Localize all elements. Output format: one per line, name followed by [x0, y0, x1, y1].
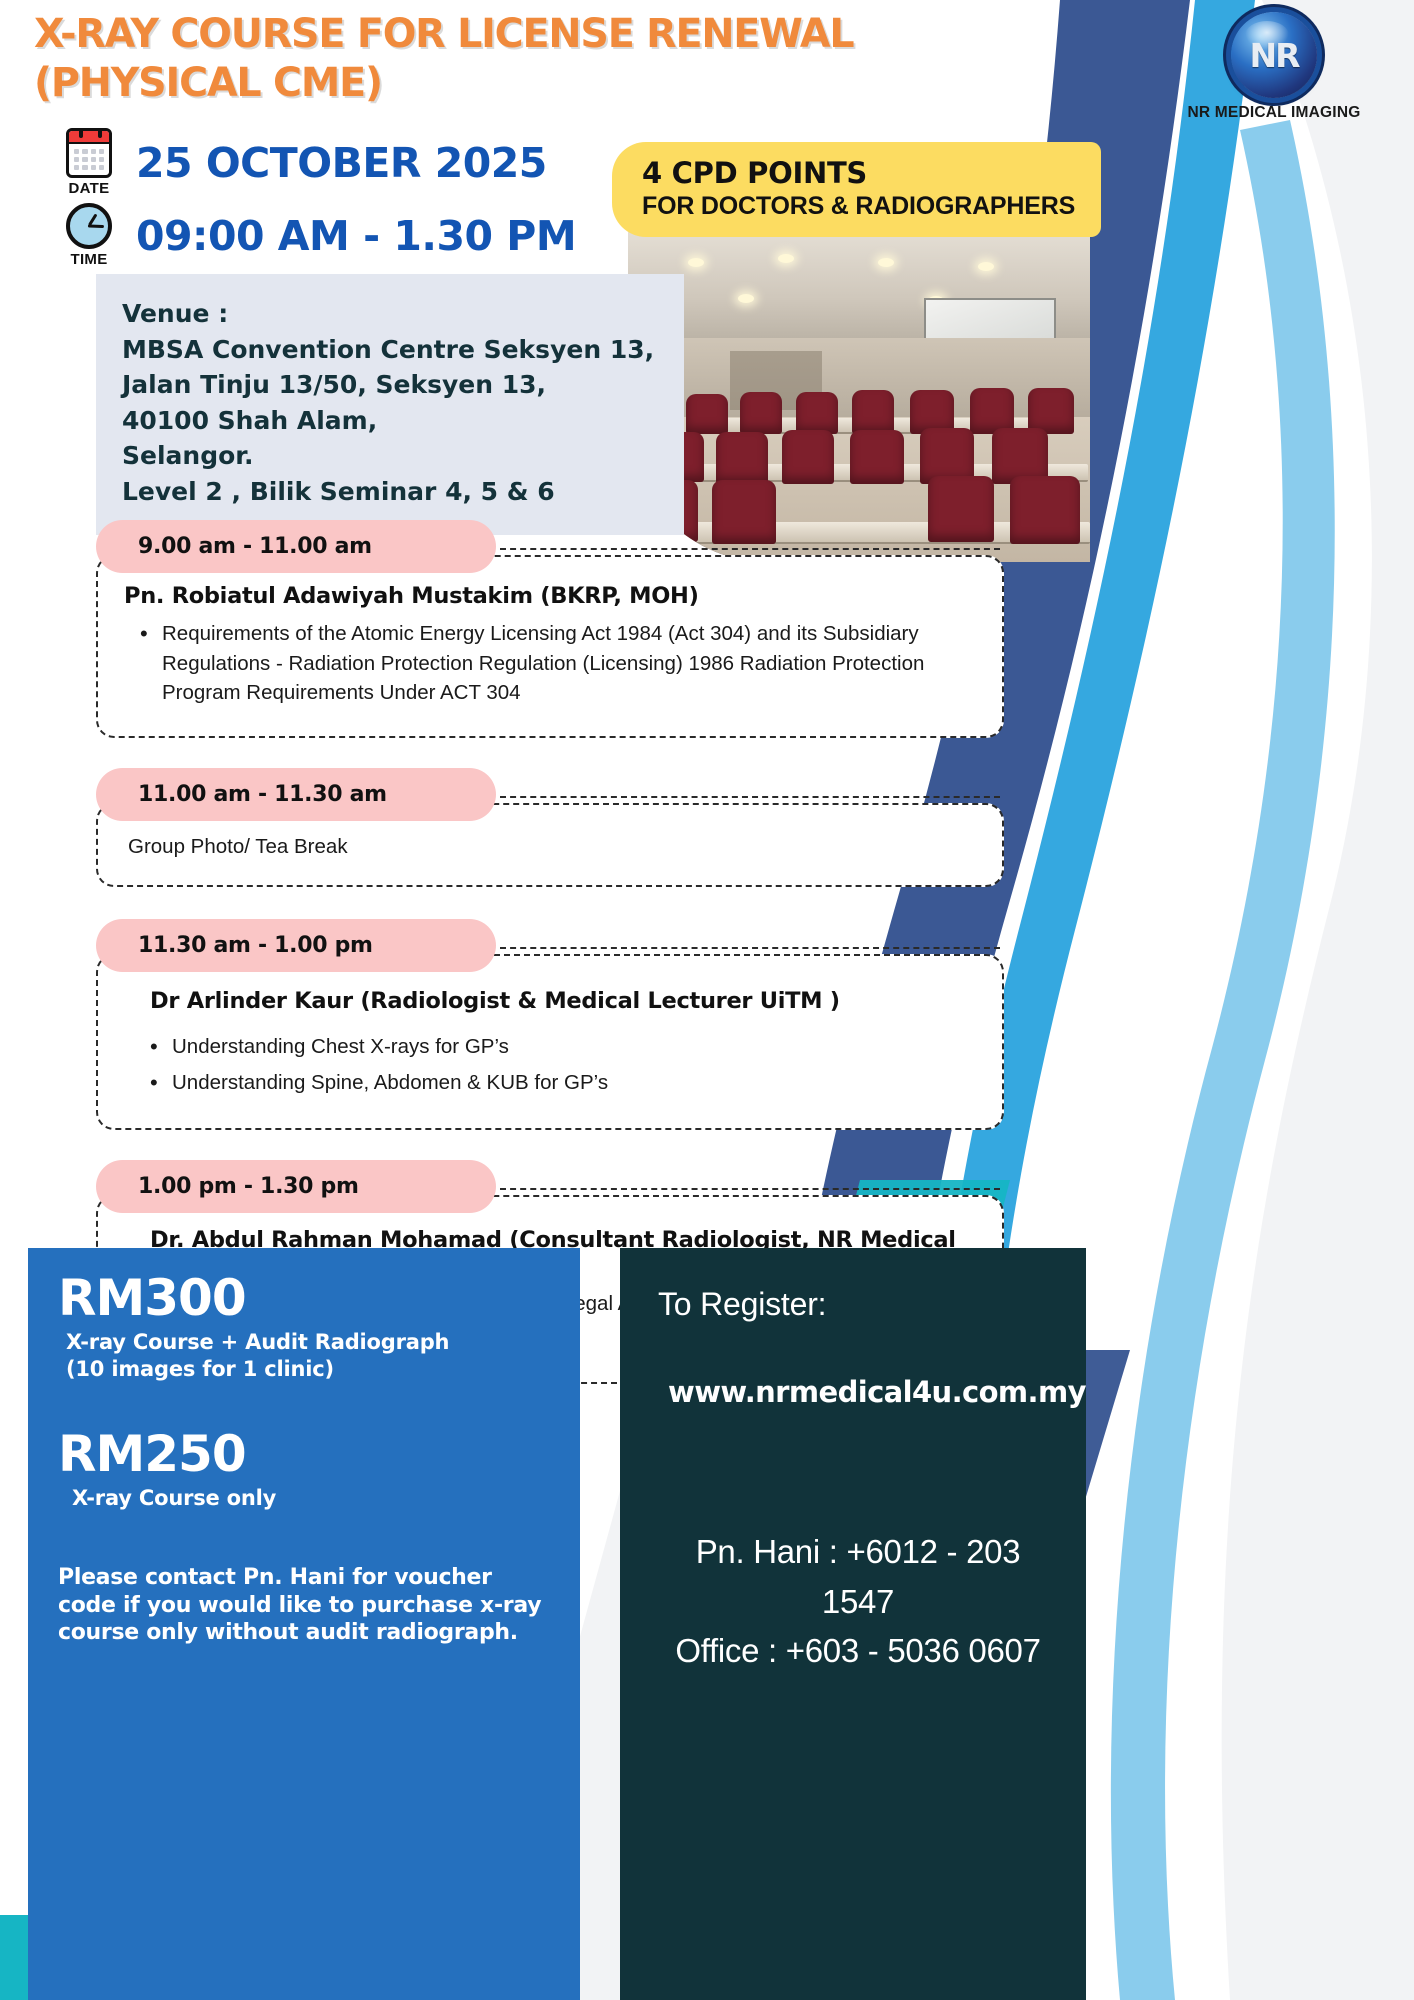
agenda-session: 11.30 am - 1.00 pm Dr Arlinder Kaur (Rad… — [0, 919, 1414, 1129]
calendar-icon: DATE — [58, 128, 120, 197]
brand-logo: NR NR MEDICAL IMAGING — [1184, 12, 1364, 122]
session-topics: Understanding Chest X-rays for GP’s Unde… — [124, 1032, 976, 1097]
venue-line-1: MBSA Convention Centre Seksyen 13, — [122, 332, 658, 368]
price-option-1-desc-line1: X-ray Course + Audit Radiograph — [66, 1329, 550, 1356]
clock-icon: TIME — [58, 203, 120, 268]
session-detail-box: Pn. Robiatul Adawiyah Mustakim (BKRP, MO… — [96, 555, 1004, 738]
session-time-pill: 11.00 am - 11.30 am — [96, 768, 496, 821]
price-option-2-desc: X-ray Course only — [72, 1485, 550, 1512]
session-dash-line — [500, 796, 1000, 798]
session-topic: Understanding Spine, Abdomen & KUB for G… — [132, 1068, 976, 1098]
contact-office[interactable]: Office : +603 - 5036 0607 — [658, 1626, 1058, 1676]
price-option-1-desc-line2: (10 images for 1 clinic) — [66, 1356, 550, 1383]
session-dash-line — [500, 548, 1000, 550]
session-speaker: Dr Arlinder Kaur (Radiologist & Medical … — [124, 988, 976, 1014]
date-icon-label: DATE — [58, 180, 120, 197]
price-option-1-amount: RM300 — [58, 1272, 550, 1325]
time-icon-label: TIME — [58, 251, 120, 268]
event-time-value: 09:00 AM - 1.30 PM — [136, 212, 576, 260]
poster-root: X-RAY COURSE FOR LICENSE RENEWAL (PHYSIC… — [0, 0, 1414, 2000]
session-topic: Understanding Chest X-rays for GP’s — [132, 1032, 976, 1062]
session-detail-box: Dr Arlinder Kaur (Radiologist & Medical … — [96, 954, 1004, 1129]
venue-line-4: Selangor. — [122, 438, 658, 474]
time-row: TIME 09:00 AM - 1.30 PM — [58, 203, 576, 268]
registration-panel: To Register: www.nrmedical4u.com.my Pn. … — [620, 1248, 1086, 2000]
session-topic: Requirements of the Atomic Energy Licens… — [132, 619, 976, 708]
cpd-points-value: 4 CPD POINTS — [642, 156, 1075, 190]
title-line-2: (PHYSICAL CME) — [34, 59, 905, 108]
date-row: DATE 25 OCTOBER 2025 — [58, 128, 576, 197]
nr-logo-icon: NR — [1231, 12, 1317, 98]
pricing-panel: RM300 X-ray Course + Audit Radiograph (1… — [28, 1248, 580, 2000]
venue-line-2: Jalan Tinju 13/50, Seksyen 13, — [122, 367, 658, 403]
agenda-session: 9.00 am - 11.00 am Pn. Robiatul Adawiyah… — [0, 520, 1414, 738]
session-topics: Requirements of the Atomic Energy Licens… — [124, 619, 976, 708]
title-line-1: X-RAY COURSE FOR LICENSE RENEWAL — [34, 10, 905, 59]
price-option-2-amount: RM250 — [58, 1428, 550, 1481]
session-activity: Group Photo/ Tea Break — [124, 835, 976, 859]
logo-company-name: NR MEDICAL IMAGING — [1184, 104, 1364, 122]
session-time-pill: 9.00 am - 11.00 am — [96, 520, 496, 573]
venue-line-5: Level 2 , Bilik Seminar 4, 5 & 6 — [122, 474, 658, 510]
voucher-note: Please contact Pn. Hani for voucher code… — [58, 1564, 550, 1647]
cpd-points-badge: 4 CPD POINTS FOR DOCTORS & RADIOGRAPHERS — [612, 142, 1101, 237]
seminar-hall-photo — [628, 232, 1090, 562]
session-dash-line — [500, 947, 1000, 949]
session-time-pill: 11.30 am - 1.00 pm — [96, 919, 496, 972]
contact-hani[interactable]: Pn. Hani : +6012 - 203 1547 — [658, 1527, 1058, 1626]
cpd-points-audience: FOR DOCTORS & RADIOGRAPHERS — [642, 192, 1075, 221]
session-speaker: Pn. Robiatul Adawiyah Mustakim (BKRP, MO… — [124, 583, 976, 609]
register-heading: To Register: — [658, 1286, 1058, 1323]
registration-url[interactable]: www.nrmedical4u.com.my — [668, 1375, 1058, 1409]
page-title: X-RAY COURSE FOR LICENSE RENEWAL (PHYSIC… — [34, 10, 914, 108]
contact-list: Pn. Hani : +6012 - 203 1547 Office : +60… — [658, 1527, 1058, 1676]
logo-monogram: NR — [1249, 36, 1298, 75]
venue-line-3: 40100 Shah Alam, — [122, 403, 658, 439]
venue-heading: Venue : — [122, 296, 658, 332]
session-time-pill: 1.00 pm - 1.30 pm — [96, 1160, 496, 1213]
event-date-value: 25 OCTOBER 2025 — [136, 139, 547, 187]
session-dash-line — [500, 1188, 1000, 1190]
venue-box: Venue : MBSA Convention Centre Seksyen 1… — [96, 274, 684, 535]
date-time-block: DATE 25 OCTOBER 2025 TIME 09:00 AM - 1.3… — [58, 128, 576, 274]
agenda-session: 11.00 am - 11.30 am Group Photo/ Tea Bre… — [0, 768, 1414, 887]
